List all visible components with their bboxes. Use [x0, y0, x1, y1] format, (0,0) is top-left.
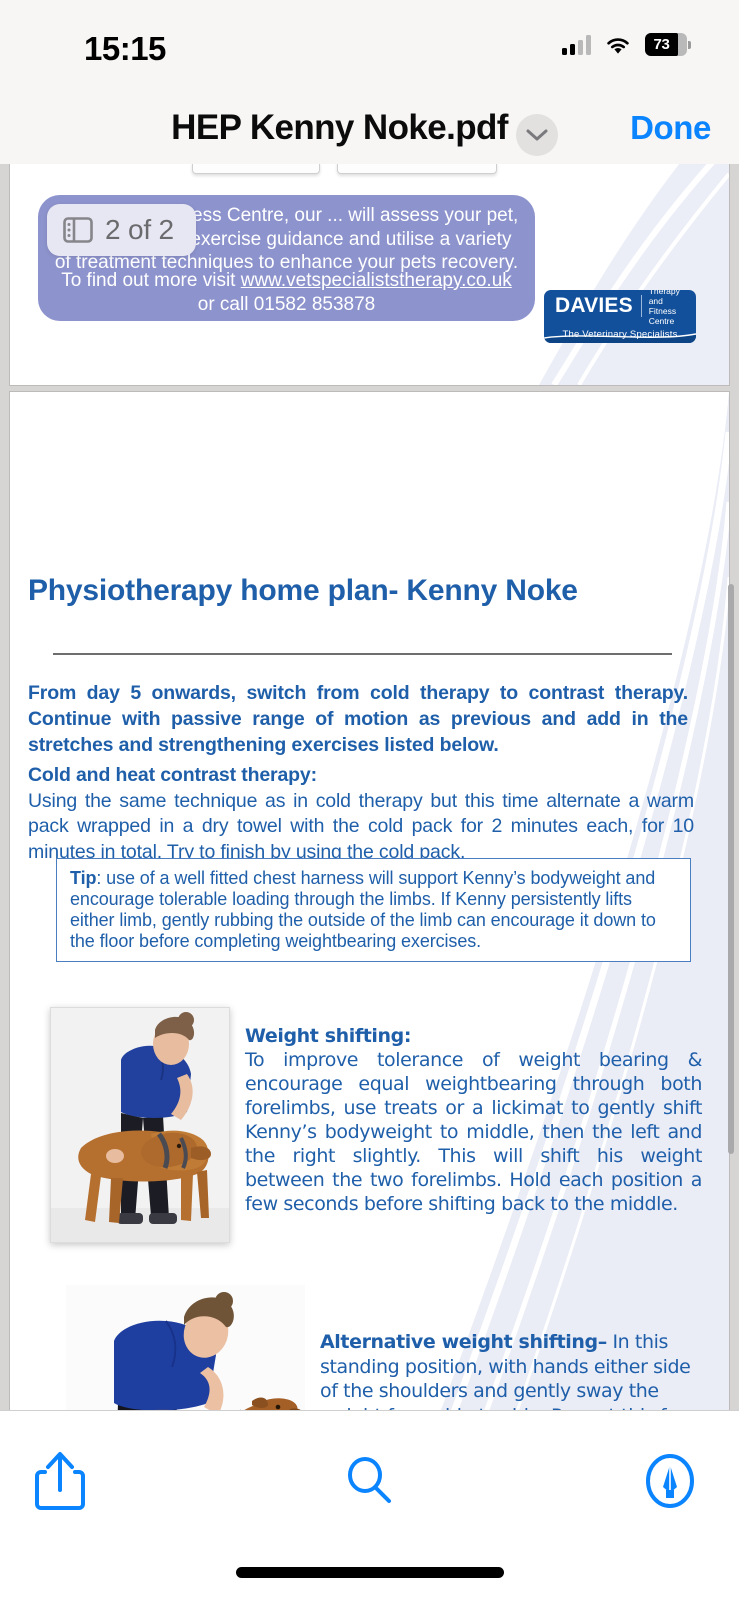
- status-time: 15:15: [84, 30, 166, 68]
- weight-shifting-body: To improve tolerance of weight bearing &…: [245, 1049, 702, 1215]
- bottom-toolbar: [0, 1410, 739, 1600]
- pdf-page-2[interactable]: Physiotherapy home plan- Kenny Noke From…: [10, 392, 729, 1410]
- pdf-viewport[interactable]: ...erapy and Fitness Centre, our ... wil…: [0, 164, 739, 1410]
- alt-weight-shifting-section: Alternative weight shifting– In this sta…: [320, 1330, 705, 1410]
- wifi-icon: [604, 35, 632, 55]
- markup-button[interactable]: [622, 1433, 718, 1529]
- chevron-down-icon[interactable]: [516, 114, 558, 156]
- status-bar: 15:15 73: [0, 0, 739, 92]
- status-icons: 73: [562, 33, 691, 56]
- share-icon: [35, 1450, 85, 1512]
- contrast-heading: Cold and heat contrast therapy:: [28, 763, 694, 789]
- photo-weight-shifting: [50, 1007, 230, 1243]
- page-thumbnails-icon: [63, 217, 93, 243]
- share-button[interactable]: [12, 1433, 108, 1529]
- search-button[interactable]: [322, 1433, 418, 1529]
- page-indicator[interactable]: 2 of 2: [47, 204, 196, 256]
- contrast-therapy-section: Cold and heat contrast therapy: Using th…: [28, 763, 694, 865]
- title-divider: [53, 653, 672, 655]
- document-title: Physiotherapy home plan- Kenny Noke: [28, 574, 688, 608]
- intro-paragraph: From day 5 onwards, switch from cold the…: [28, 680, 688, 758]
- search-icon: [344, 1455, 396, 1507]
- weight-shifting-section: Weight shifting:To improve tolerance of …: [245, 1024, 702, 1216]
- website-link[interactable]: www.vetspecialiststherapy.co.uk: [241, 270, 512, 291]
- home-indicator: [236, 1567, 504, 1578]
- page-title: HEP Kenny Noke.pdf: [0, 108, 739, 148]
- callout-suffix: or call 01582 853878: [198, 294, 375, 315]
- callout-prefix: To find out more visit: [61, 270, 241, 291]
- logo-subtitle-2: Fitness Centre: [649, 306, 696, 326]
- markup-pen-icon: [644, 1453, 696, 1509]
- logo-wordmark: DAVIES: [555, 294, 633, 318]
- logo-subtitle-1: Therapy and: [649, 290, 696, 306]
- callout-line-2: To find out more visit www.vetspecialist…: [38, 269, 535, 316]
- tip-label: Tip: [70, 868, 96, 888]
- photo-alt-weight-shifting: [66, 1285, 305, 1410]
- cellular-signal-icon: [562, 35, 591, 55]
- contrast-body: Using the same technique as in cold ther…: [28, 789, 694, 866]
- done-button[interactable]: Done: [630, 109, 711, 147]
- vertical-scrollbar[interactable]: [728, 584, 734, 1154]
- photo-edge: [192, 164, 320, 174]
- photo-edge: [337, 164, 497, 174]
- tip-body: : use of a well fitted chest harness wil…: [70, 868, 656, 951]
- weight-shifting-heading: Weight shifting:: [245, 1024, 702, 1048]
- tip-box: Tip: use of a well fitted chest harness …: [56, 858, 691, 962]
- alt-shifting-heading: Alternative weight shifting–: [320, 1331, 607, 1353]
- davies-logo: DAVIES Therapy and Fitness Centre The Ve…: [544, 290, 696, 343]
- nav-bar: HEP Kenny Noke.pdf Done: [0, 92, 739, 164]
- page-indicator-label: 2 of 2: [105, 214, 174, 246]
- pdf-page-1[interactable]: ...erapy and Fitness Centre, our ... wil…: [10, 164, 729, 385]
- logo-tagline: The Veterinary Specialists: [544, 329, 696, 340]
- battery-icon: 73: [645, 33, 691, 56]
- battery-percent: 73: [645, 33, 678, 56]
